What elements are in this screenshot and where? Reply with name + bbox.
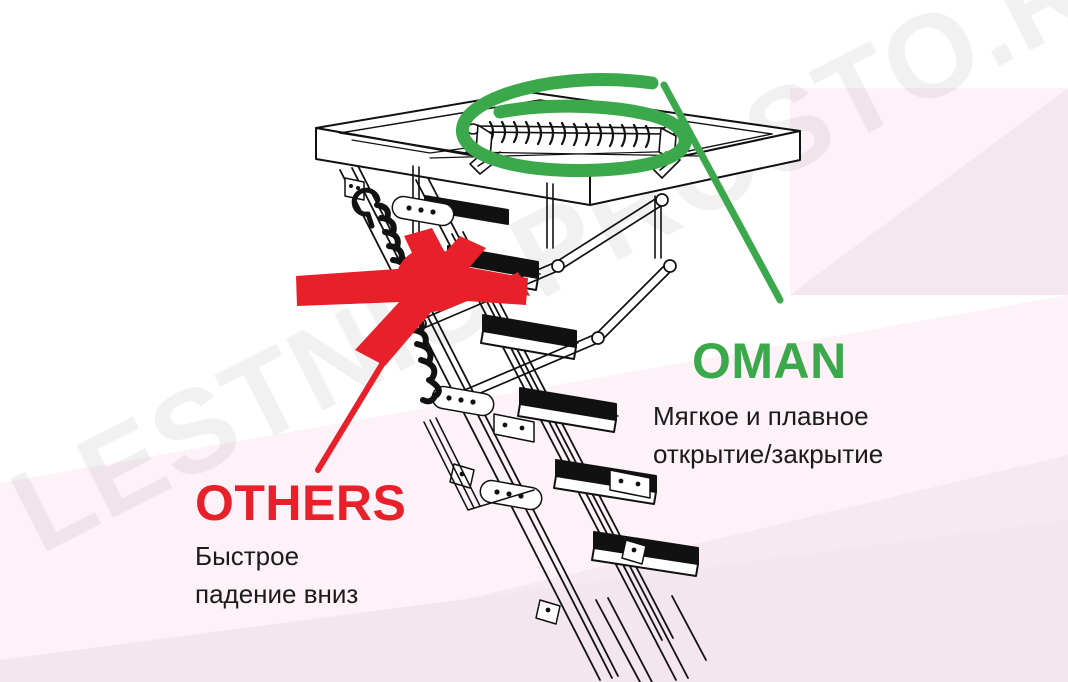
red-annotation-layer bbox=[0, 0, 1068, 682]
red-leader-line bbox=[318, 338, 398, 470]
red-cross-arrow bbox=[296, 228, 530, 366]
others-brand-label: OTHERS bbox=[195, 474, 406, 532]
others-caption-line-2: падение вниз bbox=[195, 572, 358, 616]
image-canvas: LESTNIC-PROSTO.RU bbox=[0, 0, 1068, 682]
oman-caption-line-2: открытие/закрытие bbox=[653, 432, 883, 476]
oman-brand-label: OMAN bbox=[692, 332, 847, 390]
